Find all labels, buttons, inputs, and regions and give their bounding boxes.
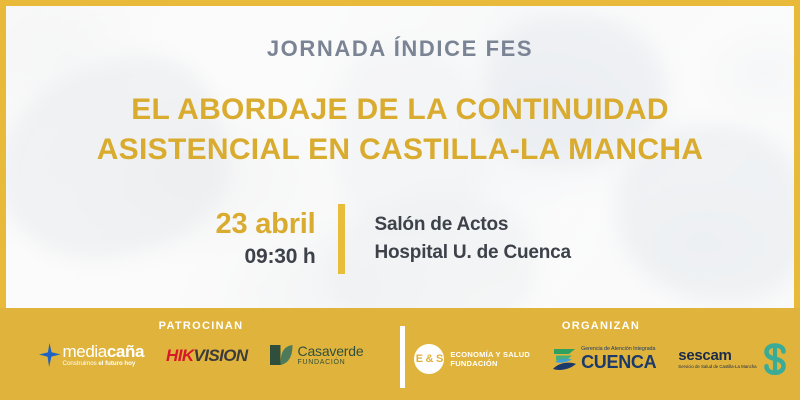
es-monogram-icon: E & S	[414, 344, 444, 374]
logo-economia-salud[interactable]: E & S ECONOMÍA Y SALUD FUNDACIÓN	[414, 344, 530, 374]
vertical-divider	[338, 204, 345, 274]
logo-cuenca[interactable]: Gerencia de Atención Integrada CUENCA	[552, 346, 656, 372]
sescam-name: sescam	[678, 348, 756, 363]
logo-casaverde[interactable]: Casaverde FUNDACIÓN	[270, 344, 364, 366]
event-time: 09:30 h	[156, 243, 316, 270]
casaverde-sub: FUNDACIÓN	[298, 359, 364, 366]
cuenca-wordmark: Gerencia de Atención Integrada CUENCA	[581, 347, 656, 371]
swoosh-icon	[552, 346, 578, 372]
event-kicker: JORNADA ÍNDICE FES	[0, 38, 800, 60]
event-date: 23 abril	[156, 207, 316, 241]
event-title-line-2: ASISTENCIAL EN CASTILLA-LA MANCHA	[0, 130, 800, 170]
venue-line-1: Salón de Actos	[375, 211, 645, 239]
event-details: 23 abril 09:30 h Salón de Actos Hospital…	[0, 204, 800, 274]
s-symbol-icon	[762, 343, 788, 375]
patrocinan-logo-row: mediacaña Construimos el futuro hoy HIKV…	[0, 343, 402, 367]
event-venue-block: Salón de Actos Hospital U. de Cuenca	[345, 211, 645, 267]
logo-hikvision[interactable]: HIKVISION	[166, 347, 248, 364]
mediacana-tagline-light: Construimos	[63, 360, 99, 367]
es-wordmark: ECONOMÍA Y SALUD FUNDACIÓN	[450, 350, 530, 369]
casaverde-name: Casaverde	[298, 344, 364, 359]
mediacana-name-light: media	[63, 342, 107, 361]
logo-mediacana[interactable]: mediacaña Construimos el futuro hoy	[39, 343, 144, 367]
mediacana-wordmark: mediacaña Construimos el futuro hoy	[63, 343, 144, 367]
sescam-sub: Servicio de Salud de Castilla-La Mancha	[678, 365, 756, 369]
es-line-1: ECONOMÍA Y SALUD	[450, 350, 530, 359]
es-line-2: FUNDACIÓN	[450, 359, 530, 368]
hikvision-hik: HIK	[166, 346, 193, 365]
cuenca-name: CUENCA	[581, 353, 656, 371]
organizan-heading: ORGANIZAN	[562, 320, 640, 332]
hikvision-vision: VISION	[194, 346, 248, 365]
event-poster: JORNADA ÍNDICE FES EL ABORDAJE DE LA CON…	[0, 0, 800, 400]
event-title-line-1: EL ABORDAJE DE LA CONTINUIDAD	[0, 90, 800, 130]
sescam-wordmark: sescam Servicio de Salud de Castilla-La …	[678, 348, 756, 369]
sponsor-bar: PATROCINAN mediacaña Construimos el futu…	[0, 308, 800, 400]
leaf-book-icon	[270, 344, 293, 366]
logo-sescam[interactable]: sescam Servicio de Salud de Castilla-La …	[678, 343, 787, 375]
event-title: EL ABORDAJE DE LA CONTINUIDAD ASISTENCIA…	[0, 90, 800, 169]
organizan-logo-row: E & S ECONOMÍA Y SALUD FUNDACIÓN	[402, 343, 800, 375]
casaverde-wordmark: Casaverde FUNDACIÓN	[298, 344, 364, 366]
patrocinan-group: PATROCINAN mediacaña Construimos el futu…	[0, 308, 402, 400]
plus-star-icon	[39, 343, 61, 367]
patrocinan-heading: PATROCINAN	[159, 320, 244, 332]
mediacana-tagline-bold: el futuro hoy	[98, 360, 135, 367]
mediacana-name-bold: caña	[107, 342, 144, 361]
organizan-group: ORGANIZAN E & S ECONOMÍA Y SALUD FUNDACI…	[402, 308, 800, 400]
event-date-block: 23 abril 09:30 h	[156, 207, 338, 271]
venue-line-2: Hospital U. de Cuenca	[375, 239, 645, 267]
